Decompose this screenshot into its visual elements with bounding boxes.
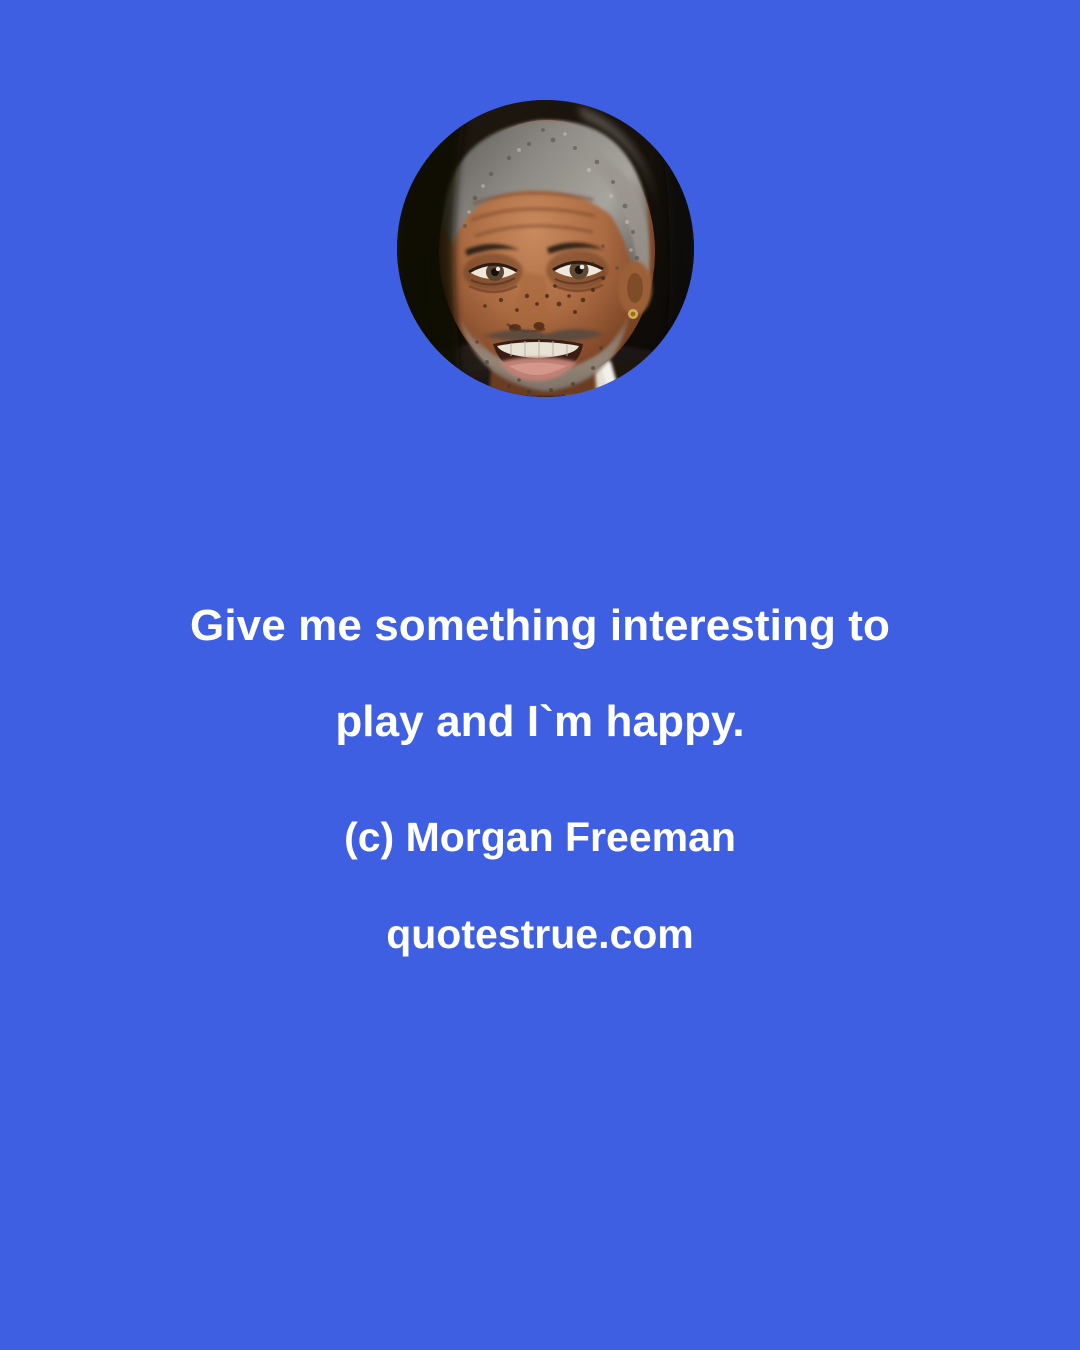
site-watermark: quotestrue.com <box>0 907 1080 961</box>
quote-block: Give me something interesting to play an… <box>0 578 1080 961</box>
portrait-image <box>397 100 694 397</box>
portrait-illustration <box>397 100 694 397</box>
quote-text: Give me something interesting to play an… <box>125 578 955 770</box>
avatar <box>397 100 694 397</box>
quote-card: Give me something interesting to play an… <box>0 0 1080 1350</box>
quote-attribution: (c) Morgan Freeman <box>0 810 1080 864</box>
